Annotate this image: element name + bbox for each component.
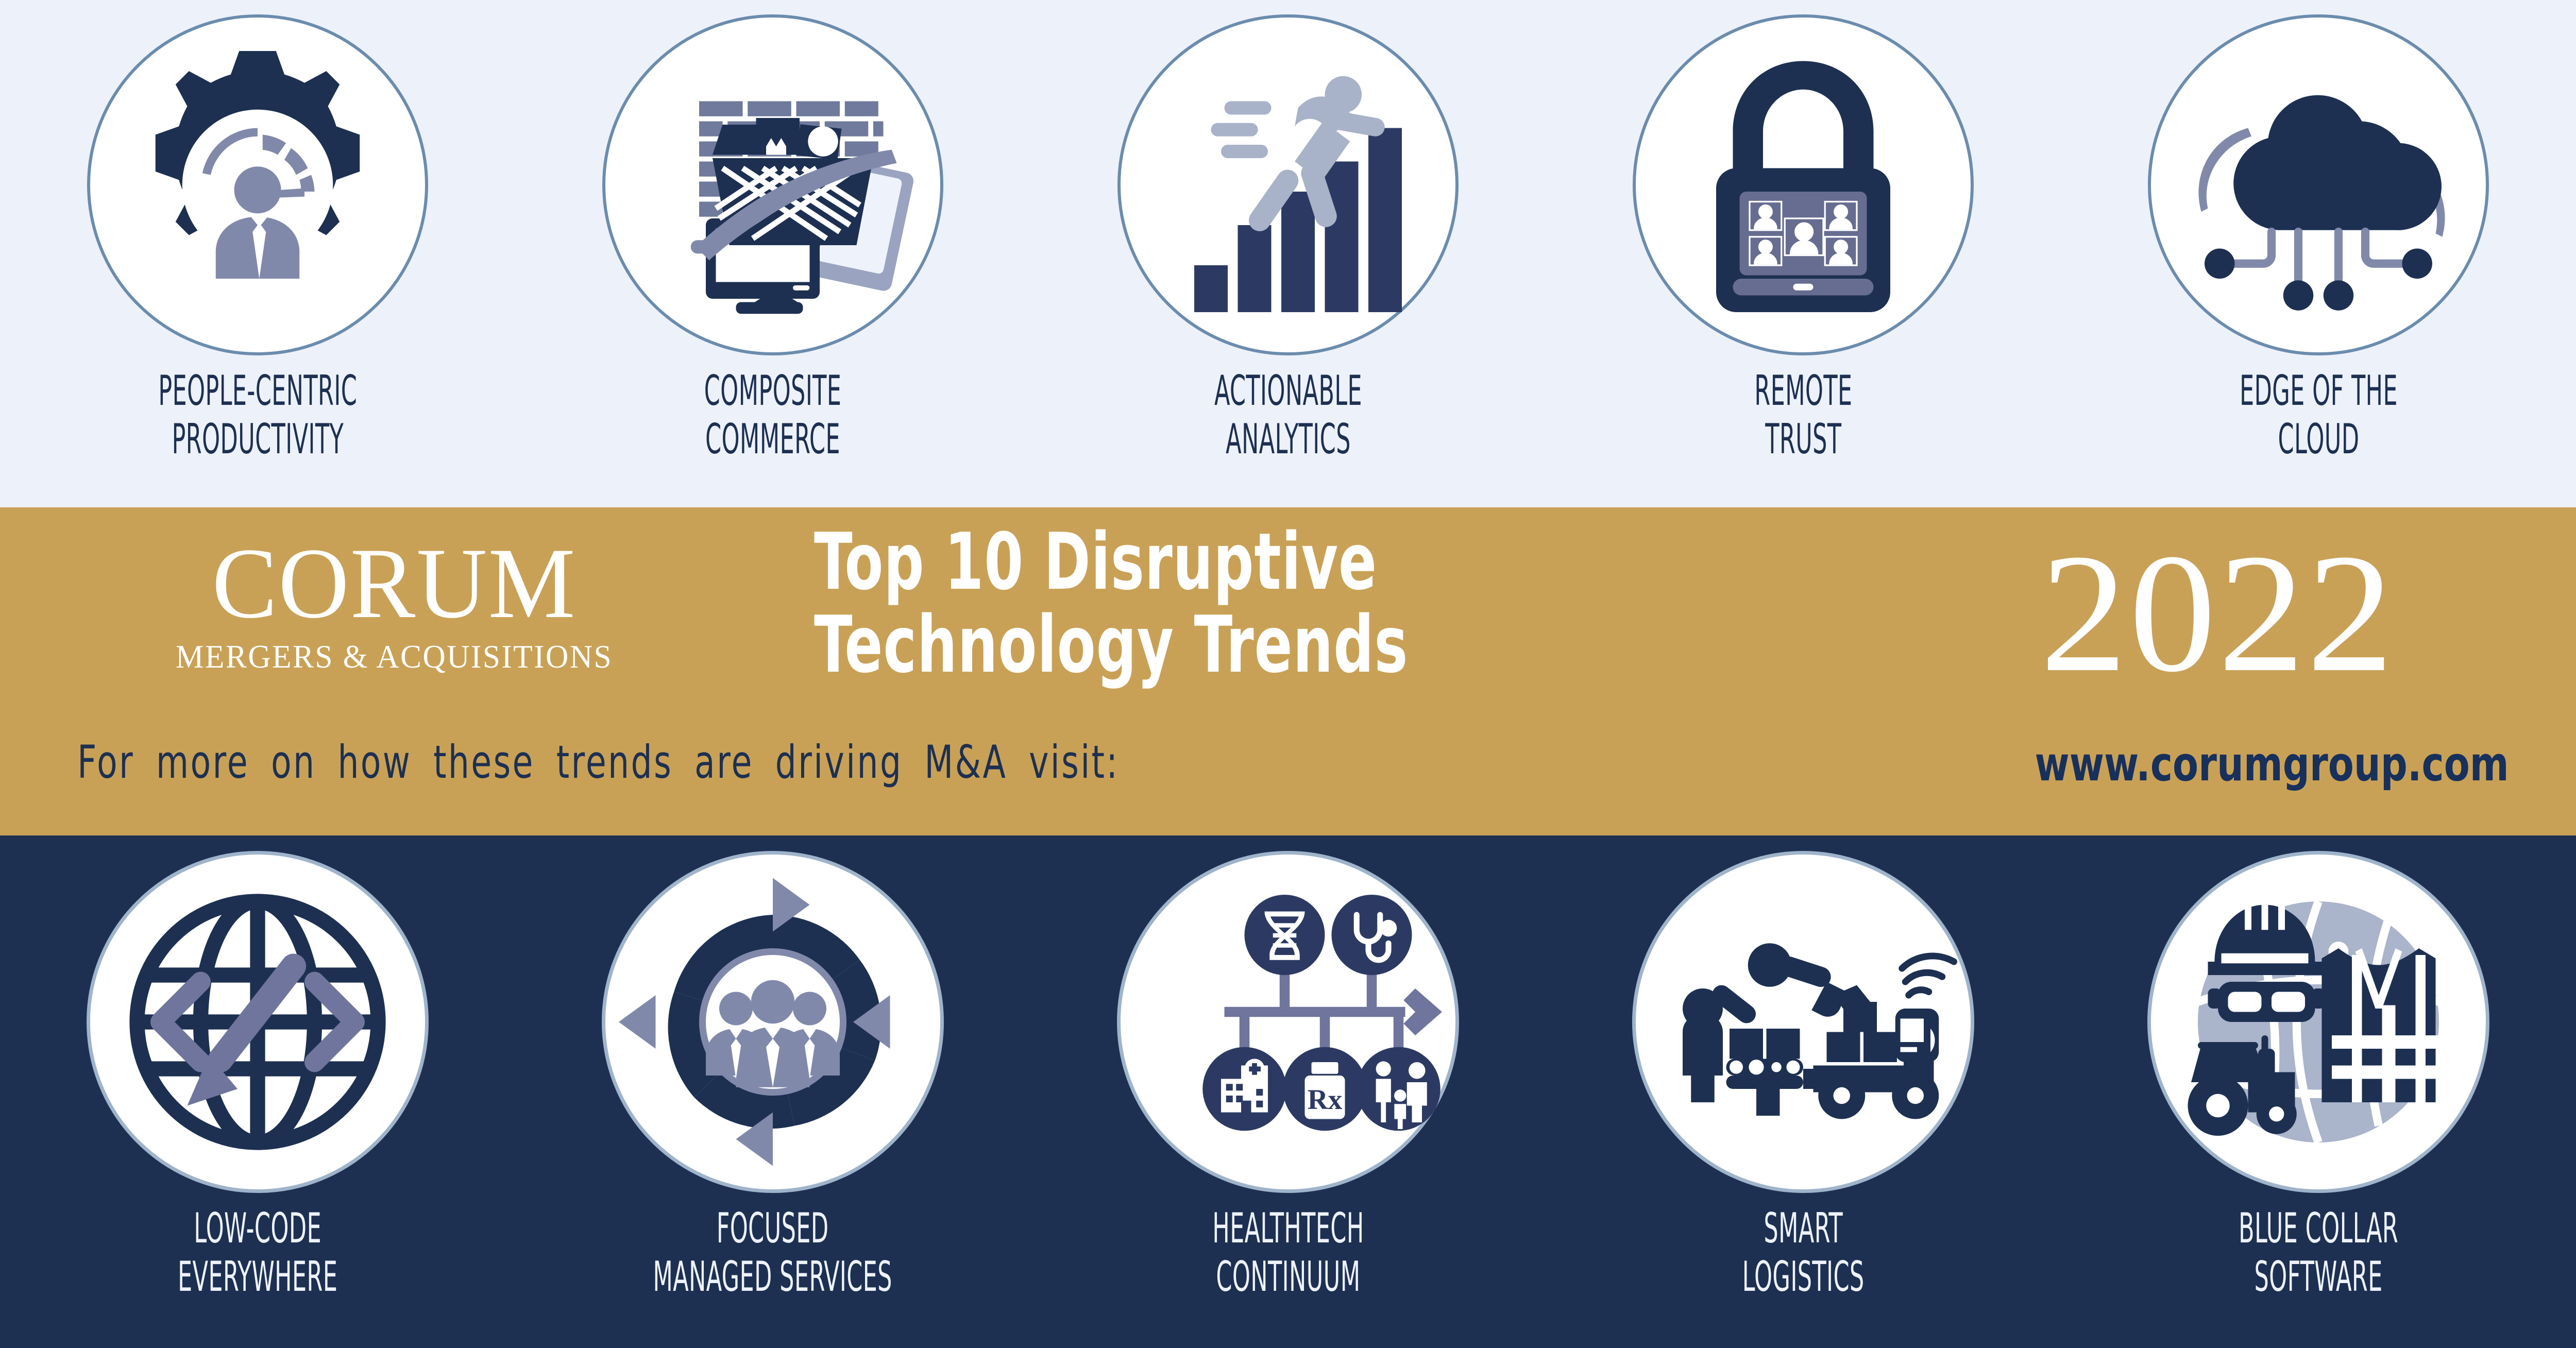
top-trends-row: PEOPLE-CENTRIC PRODUCTIVITY bbox=[0, 0, 2576, 507]
trend-label-line1: SMART bbox=[1742, 1204, 1865, 1253]
bottom-trends-row: LOW-CODE EVERYWHERE bbox=[0, 835, 2576, 1348]
page-title-line1: Top 10 Disruptive bbox=[814, 520, 1597, 603]
icon-circle bbox=[602, 14, 943, 355]
icon-circle bbox=[87, 851, 429, 1193]
page-title: Top 10 Disruptive Technology Trends bbox=[814, 520, 1597, 686]
trend-label-line1: REMOTE bbox=[1754, 367, 1852, 415]
icon-circle bbox=[1633, 14, 1974, 355]
icon-circle bbox=[1632, 851, 1974, 1193]
gear-person-gauge-icon bbox=[90, 18, 425, 352]
trend-label-line2: LOGISTICS bbox=[1742, 1253, 1865, 1301]
trend-label-line1: EDGE OF THE bbox=[2240, 367, 2398, 415]
icon-circle bbox=[1117, 14, 1459, 355]
trend-card-actionable-analytics[interactable]: ACTIONABLE ANALYTICS bbox=[1030, 0, 1546, 507]
icon-circle bbox=[2147, 851, 2489, 1193]
aperture-team-arrows-icon bbox=[605, 855, 940, 1189]
trend-label: REMOTE TRUST bbox=[1754, 367, 1852, 464]
icon-circle bbox=[2148, 14, 2489, 355]
shopping-basket-monitor-tablet-icon bbox=[605, 18, 940, 352]
trend-label-line1: BLUE COLLAR bbox=[2239, 1204, 2398, 1253]
trend-card-healthtech-continuum[interactable]: Rx HEALTHTECH CONTINUUM bbox=[1030, 835, 1546, 1348]
trend-label: SMART LOGISTICS bbox=[1742, 1204, 1865, 1302]
trend-card-composite-commerce[interactable]: COMPOSITE COMMERCE bbox=[515, 0, 1030, 507]
hardhat-goggles-vest-tractor-globe-icon bbox=[2151, 855, 2486, 1189]
trend-label: FOCUSED MANAGED SERVICES bbox=[653, 1204, 892, 1302]
trend-label-line2: CLOUD bbox=[2240, 415, 2398, 464]
icon-circle: Rx bbox=[1117, 851, 1459, 1193]
trend-label-line2: TRUST bbox=[1754, 415, 1852, 464]
trend-label-line2: SOFTWARE bbox=[2239, 1253, 2398, 1301]
robot-conveyor-connected-truck-icon bbox=[1636, 855, 1971, 1189]
trend-label: LOW-CODE EVERYWHERE bbox=[178, 1204, 337, 1302]
trend-label-line1: HEALTHTECH bbox=[1212, 1204, 1364, 1253]
corum-subtitle: MERGERS & ACQUISITIONS bbox=[120, 638, 669, 676]
icon-circle bbox=[87, 14, 428, 355]
trend-label-line1: ACTIONABLE bbox=[1214, 367, 1362, 415]
trend-label-line2: CONTINUUM bbox=[1212, 1253, 1364, 1301]
trend-label-line1: COMPOSITE bbox=[704, 367, 842, 415]
year-label: 2022 bbox=[1916, 507, 2520, 720]
trend-card-people-centric-productivity[interactable]: PEOPLE-CENTRIC PRODUCTIVITY bbox=[0, 0, 515, 507]
trend-card-edge-of-the-cloud[interactable]: EDGE OF THE CLOUD bbox=[2061, 0, 2576, 507]
trend-label: PEOPLE-CENTRIC PRODUCTIVITY bbox=[158, 367, 357, 464]
trend-label-line2: COMMERCE bbox=[704, 415, 842, 464]
page-title-line2: Technology Trends bbox=[814, 603, 1597, 686]
corum-wordmark: CORUM bbox=[117, 536, 672, 632]
trend-label: ACTIONABLE ANALYTICS bbox=[1214, 367, 1362, 464]
runner-bar-chart-icon bbox=[1121, 18, 1455, 352]
trend-label: EDGE OF THE CLOUD bbox=[2240, 367, 2398, 464]
trend-card-smart-logistics[interactable]: SMART LOGISTICS bbox=[1546, 835, 2061, 1348]
padlock-video-conference-icon bbox=[1636, 18, 1971, 352]
cloud-network-nodes-icon bbox=[2151, 18, 2486, 352]
trend-label-line1: LOW-CODE bbox=[178, 1204, 337, 1253]
trend-label-line1: FOCUSED bbox=[653, 1204, 892, 1253]
trend-card-focused-managed-services[interactable]: FOCUSED MANAGED SERVICES bbox=[515, 835, 1030, 1348]
trend-label: HEALTHTECH CONTINUUM bbox=[1212, 1204, 1364, 1302]
svg-text:Rx: Rx bbox=[1308, 1084, 1343, 1115]
trend-label-line2: ANALYTICS bbox=[1214, 415, 1362, 464]
trend-card-low-code-everywhere[interactable]: LOW-CODE EVERYWHERE bbox=[0, 835, 515, 1348]
trend-card-remote-trust[interactable]: REMOTE TRUST bbox=[1546, 0, 2061, 507]
trend-label-line2: MANAGED SERVICES bbox=[653, 1253, 892, 1301]
globe-code-brackets-arrow-icon bbox=[90, 855, 425, 1189]
trend-label: COMPOSITE COMMERCE bbox=[704, 367, 842, 464]
corum-logo[interactable]: CORUM MERGERS & ACQUISITIONS bbox=[108, 536, 680, 676]
website-link[interactable]: www.corumgroup.com bbox=[2035, 737, 2509, 792]
infographic-poster: PEOPLE-CENTRIC PRODUCTIVITY bbox=[0, 0, 2576, 1348]
trend-label-line2: PRODUCTIVITY bbox=[158, 415, 357, 464]
trend-label-line2: EVERYWHERE bbox=[178, 1253, 337, 1301]
tagline-text: For more on how these trends are driving… bbox=[77, 736, 1119, 789]
trend-label: BLUE COLLAR SOFTWARE bbox=[2239, 1204, 2398, 1302]
icon-circle bbox=[602, 851, 944, 1193]
trend-label-line1: PEOPLE-CENTRIC bbox=[158, 367, 357, 415]
healthcare-continuum-timeline-icon: Rx bbox=[1121, 855, 1455, 1189]
trend-card-blue-collar-software[interactable]: BLUE COLLAR SOFTWARE bbox=[2061, 835, 2576, 1348]
